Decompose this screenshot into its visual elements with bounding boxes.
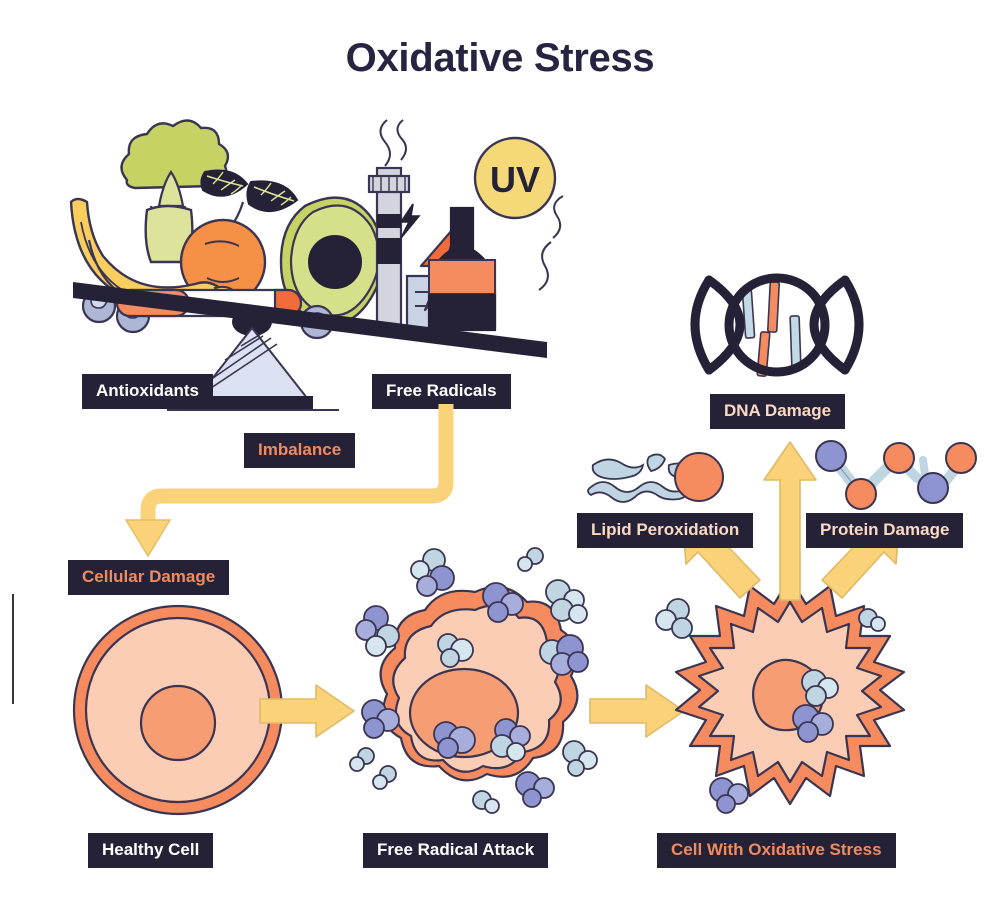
label-protein-damage: Protein Damage [806, 513, 963, 548]
free-radical-cluster [473, 791, 499, 813]
free-radical-cluster [563, 741, 597, 776]
label-dna-damage: DNA Damage [710, 394, 845, 429]
free-radical-cluster [516, 772, 554, 807]
free-radical-cluster [656, 599, 692, 638]
cell-nucleus [141, 686, 215, 760]
infographic-canvas: Oxidative Stress Adobe Stock | #17819170… [0, 0, 1000, 917]
watermark-divider [12, 594, 14, 704]
broken-protein-chain-icon [805, 440, 975, 510]
free-radical-cluster [518, 548, 543, 571]
free-radical-cluster [350, 748, 374, 771]
balance-scale-illustration: UV [55, 110, 575, 410]
free-radical-cluster [546, 580, 587, 623]
free-radical-cluster [356, 606, 399, 656]
free-radical-cluster [710, 778, 748, 813]
dna-helix-icon [695, 272, 865, 377]
wine-bottle-icon [429, 208, 495, 330]
uv-sun-icon: UV [475, 138, 555, 218]
free-radical-cluster [373, 766, 396, 789]
uv-label: UV [490, 159, 540, 200]
imbalance-to-cellular-damage-arrow [120, 404, 460, 564]
label-free-radical-attack: Free Radical Attack [363, 833, 548, 868]
label-cell-with-oxidative-stress: Cell With Oxidative Stress [657, 833, 896, 868]
page-title: Oxidative Stress [0, 36, 1000, 81]
free-radical-attack-cell-illustration [330, 548, 620, 830]
label-lipid-peroxidation: Lipid Peroxidation [577, 513, 753, 548]
free-radical-cluster [859, 609, 885, 631]
broken-lipid-chain-icon [585, 443, 725, 505]
label-cellular-damage: Cellular Damage [68, 560, 229, 595]
free-radical-cluster [411, 549, 454, 596]
label-healthy-cell: Healthy Cell [88, 833, 213, 868]
